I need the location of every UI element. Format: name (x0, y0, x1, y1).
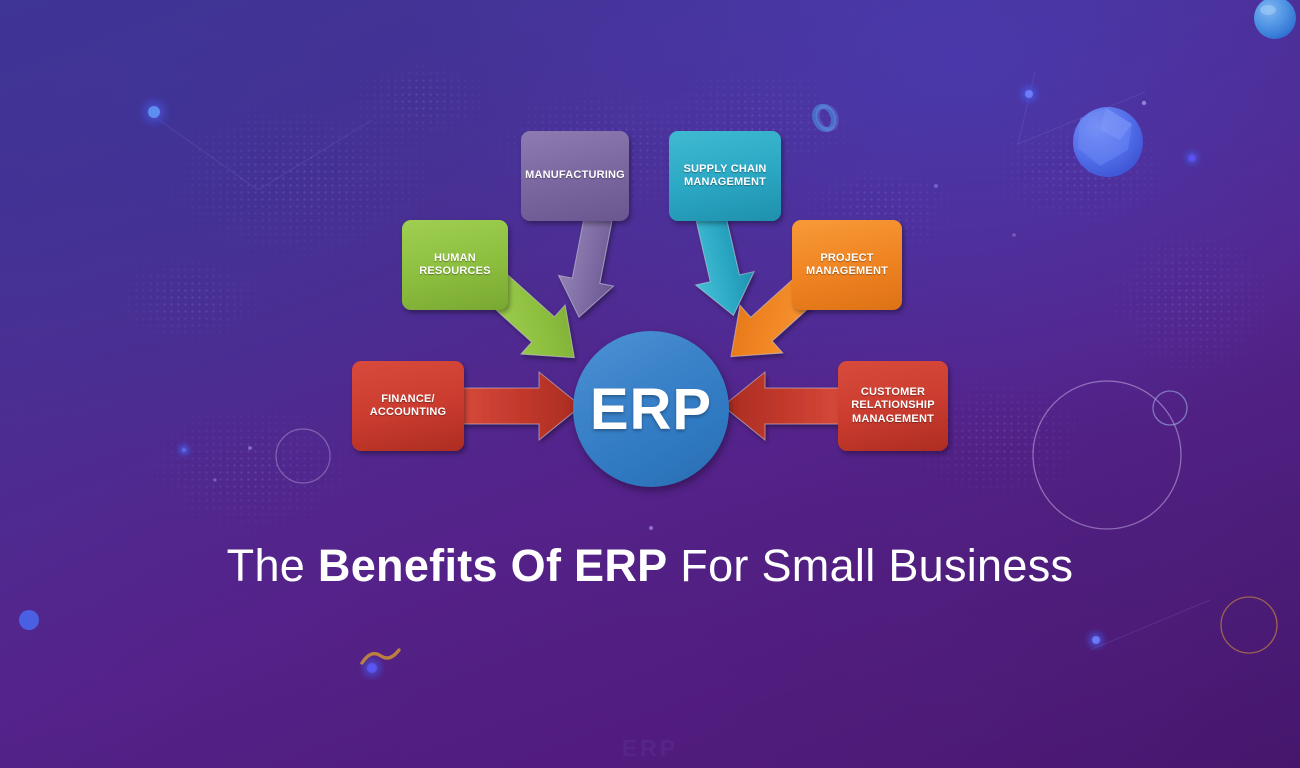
background-watermark: ERP (0, 735, 1300, 762)
page-title: The Benefits Of ERP For Small Business (0, 540, 1300, 592)
node-supply-chain-management[interactable]: SUPPLY CHAINMANAGEMENT (669, 131, 781, 221)
node-finance-accounting-label: FINANCE/ACCOUNTING (370, 393, 447, 420)
erp-hub-and-spoke-diagram: MANUFACTURING SUPPLY CHAINMANAGEMENT HUM… (0, 0, 1300, 520)
arrow-supply-chain (681, 207, 763, 322)
page-title-trail: For Small Business (667, 540, 1073, 591)
page-title-lead: The (227, 540, 318, 591)
arrow-manufacturing (551, 209, 626, 323)
node-project-management[interactable]: PROJECTMANAGEMENT (792, 220, 902, 310)
arrow-finance-accounting (455, 372, 581, 440)
node-human-resources-label: HUMANRESOURCES (419, 252, 490, 279)
node-supply-chain-management-label: SUPPLY CHAINMANAGEMENT (683, 163, 766, 190)
node-customer-relationship-management-label: CUSTOMERRELATIONSHIPMANAGEMENT (851, 386, 934, 426)
ring-amber-bottom-right (1221, 597, 1277, 653)
node-human-resources[interactable]: HUMANRESOURCES (402, 220, 508, 310)
arrow-customer-relationship-management (723, 372, 849, 440)
node-manufacturing[interactable]: MANUFACTURING (521, 131, 629, 221)
node-finance-accounting[interactable]: FINANCE/ACCOUNTING (352, 361, 464, 451)
node-customer-relationship-management[interactable]: CUSTOMERRELATIONSHIPMANAGEMENT (838, 361, 948, 451)
dot-bottom-left (19, 610, 39, 630)
erp-center-node[interactable]: ERP (573, 331, 729, 487)
slide-canvas: MANUFACTURING SUPPLY CHAINMANAGEMENT HUM… (0, 0, 1300, 768)
page-title-emphasis: Benefits Of ERP (318, 540, 668, 591)
node-project-management-label: PROJECTMANAGEMENT (806, 252, 888, 279)
node-manufacturing-label: MANUFACTURING (525, 169, 625, 182)
erp-center-label: ERP (590, 376, 712, 443)
